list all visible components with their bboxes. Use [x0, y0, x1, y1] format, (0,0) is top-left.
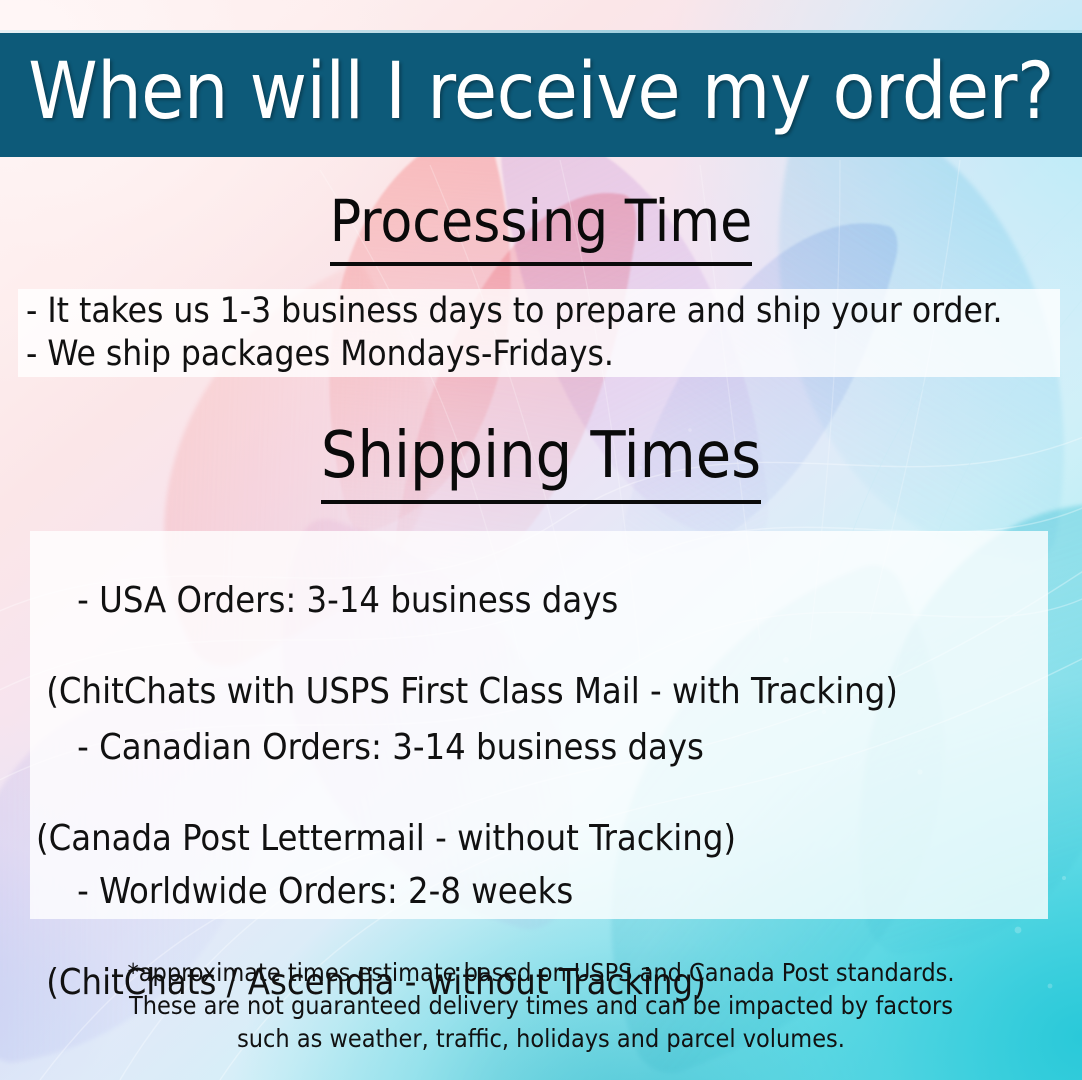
header-banner: When will I receive my order?	[0, 33, 1082, 157]
processing-text: - It takes us 1-3 business days to prepa…	[26, 290, 1003, 377]
section-heading-shipping-label: Shipping Times	[321, 419, 761, 504]
section-heading-processing: Processing Time	[0, 192, 1082, 250]
shipping-info-graphic: When will I receive my order? Processing…	[0, 0, 1082, 1080]
page-title: When will I receive my order?	[28, 53, 1053, 137]
shipping-entry-usa-line1: - USA Orders: 3-14 business days	[77, 580, 618, 621]
section-heading-processing-label: Processing Time	[330, 187, 753, 266]
section-heading-shipping: Shipping Times	[0, 424, 1082, 488]
shipping-entry-canada-line1: - Canadian Orders: 3-14 business days	[77, 727, 704, 768]
shipping-entry-worldwide-line1: - Worldwide Orders: 2-8 weeks	[77, 871, 573, 912]
footnote-disclaimer: *approximate times estimate based on USP…	[0, 956, 1082, 1055]
